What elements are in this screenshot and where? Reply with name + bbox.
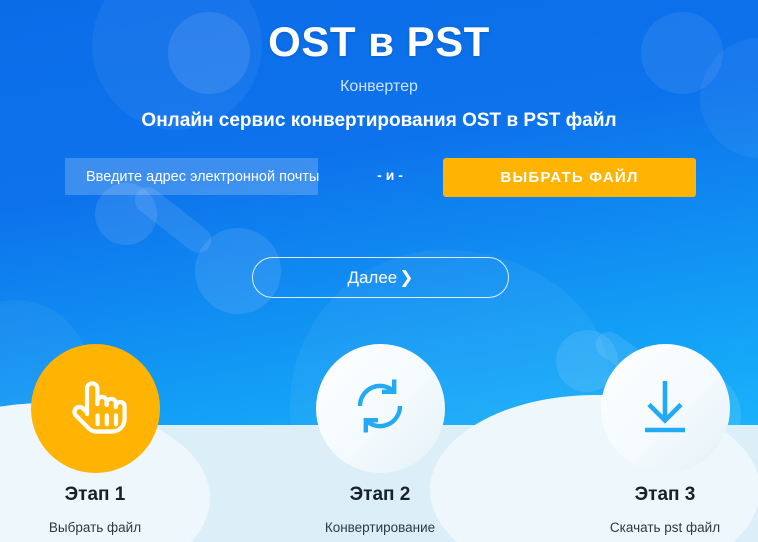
page-title: OST в PST <box>0 18 758 66</box>
page-tagline: Онлайн сервис конвертирования OST в PST … <box>0 110 758 132</box>
step-item-3: Этап 3 Скачать pst файл <box>545 344 758 535</box>
step-3-circle <box>601 344 730 473</box>
step-3-caption: Скачать pst файл <box>545 520 758 535</box>
refresh-sync-icon <box>345 371 415 446</box>
step-2-label: Этап 2 <box>260 484 500 506</box>
step-item-1: Этап 1 Выбрать файл <box>0 344 215 535</box>
page-subtitle: Конвертер <box>0 78 758 96</box>
step-1-circle <box>31 344 160 473</box>
upload-form-row: Введите адрес электронной почты - и - ВЫ… <box>0 158 758 198</box>
step-2-circle <box>316 344 445 473</box>
download-arrow-icon <box>632 373 698 444</box>
chevron-right-icon: ❯ <box>399 269 413 286</box>
steps-section: Этап 1 Выбрать файл Этап 2 Конвертирован… <box>0 344 758 542</box>
choose-file-button[interactable]: ВЫБРАТЬ ФАЙЛ <box>443 158 696 197</box>
step-2-caption: Конвертирование <box>260 520 500 535</box>
email-input[interactable]: Введите адрес электронной почты <box>65 158 318 195</box>
step-item-2: Этап 2 Конвертирование <box>260 344 500 535</box>
next-button[interactable]: Далее ❯ <box>252 257 509 298</box>
step-3-label: Этап 3 <box>545 484 758 506</box>
next-button-label: Далее <box>347 268 397 288</box>
step-1-caption: Выбрать файл <box>0 520 215 535</box>
converter-landing-page: OST в PST Конвертер Онлайн сервис конвер… <box>0 0 758 542</box>
step-1-label: Этап 1 <box>0 484 215 506</box>
pointing-hand-icon <box>63 374 127 443</box>
separator-label: - и - <box>345 167 435 183</box>
email-placeholder: Введите адрес электронной почты <box>86 169 319 185</box>
